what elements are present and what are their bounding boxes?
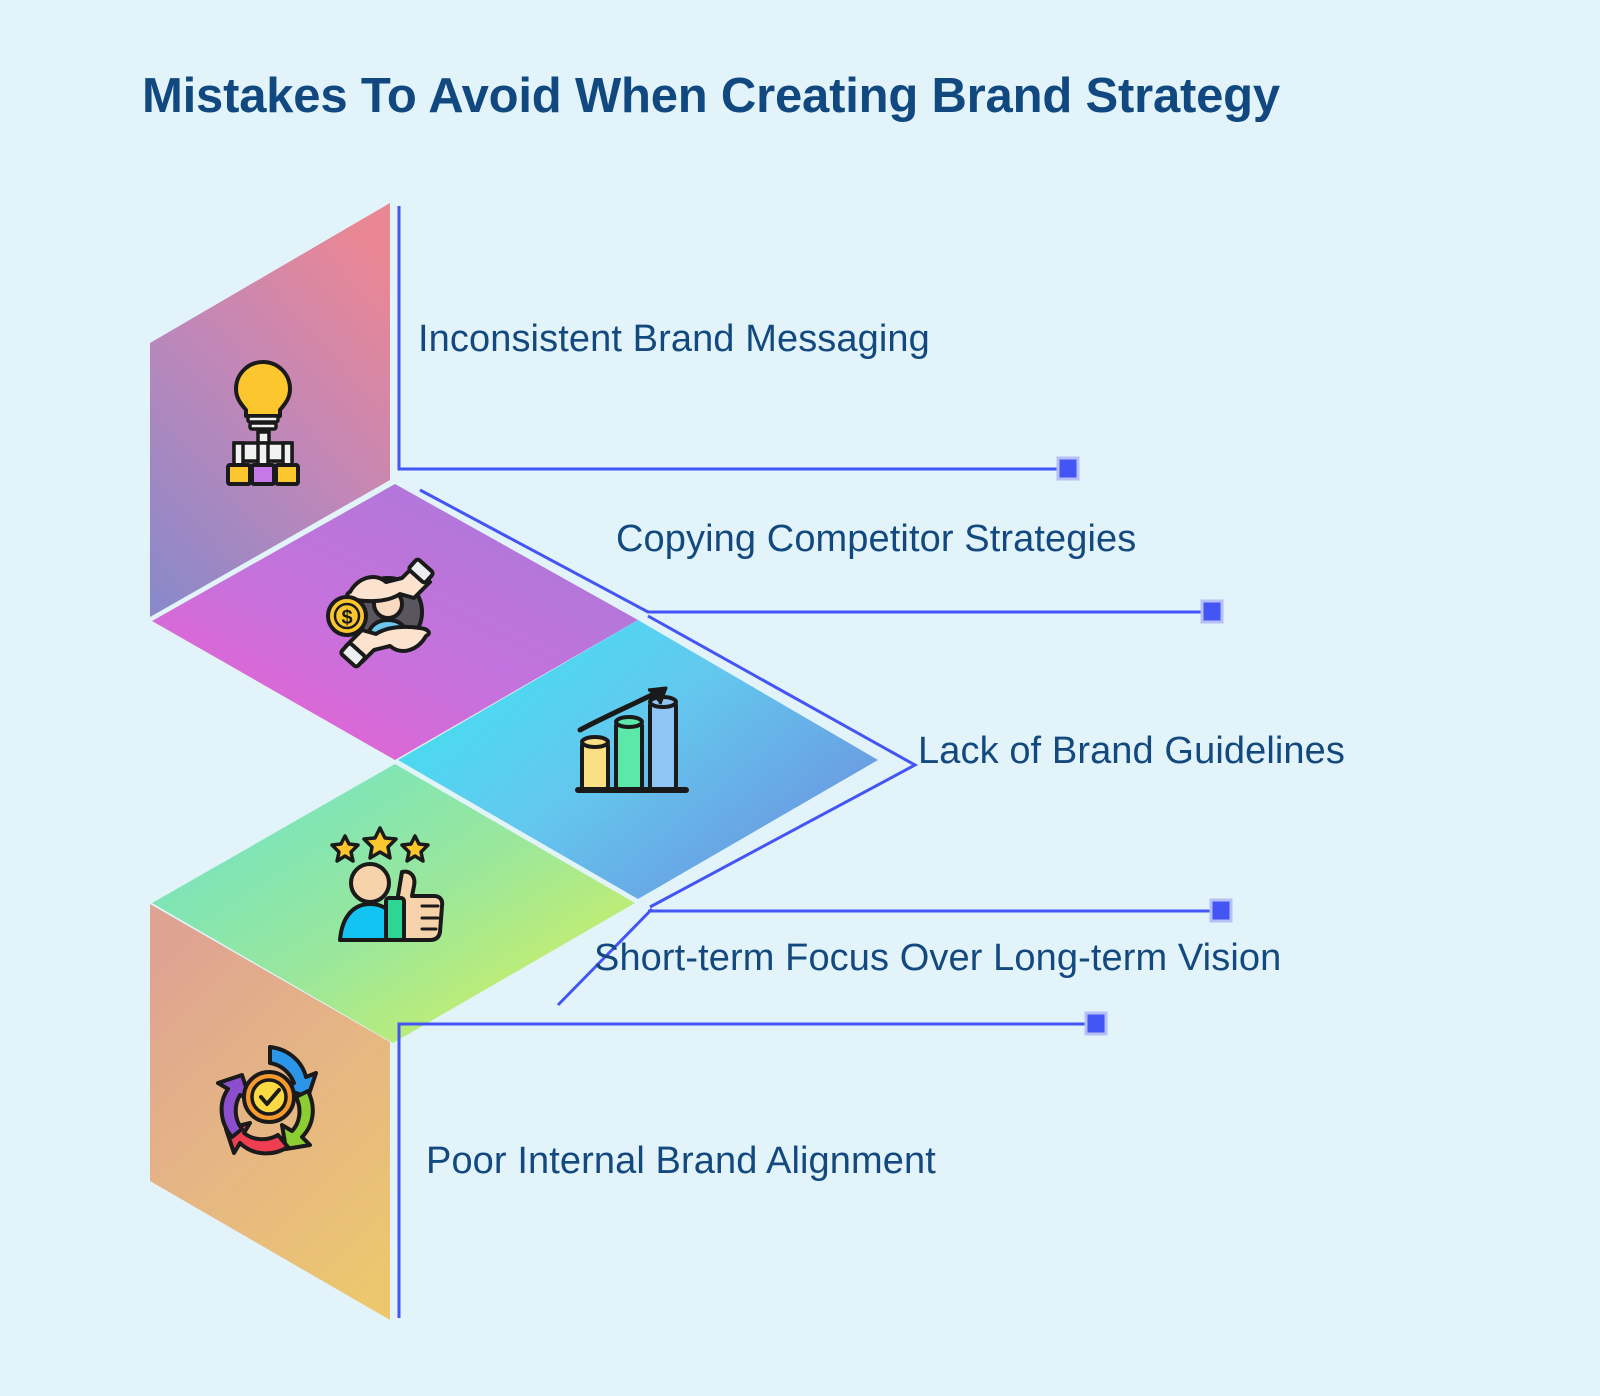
connector-endpoint-marker-4	[1211, 900, 1231, 921]
infographic-artwork: $	[0, 0, 1600, 1396]
connector-endpoint-marker-2	[1202, 601, 1222, 622]
item-label-4: Short-term Focus Over Long-term Vision	[594, 937, 1281, 980]
item-label-3: Lack of Brand Guidelines	[918, 730, 1345, 773]
item-label-5: Poor Internal Brand Alignment	[426, 1140, 936, 1183]
item-label-1: Inconsistent Brand Messaging	[418, 318, 930, 361]
connector-endpoint-marker-1	[1058, 458, 1078, 479]
infographic-canvas: Mistakes To Avoid When Creating Brand St…	[0, 0, 1600, 1396]
item-label-2: Copying Competitor Strategies	[616, 518, 1136, 561]
svg-text:$: $	[341, 607, 352, 629]
connector-endpoint-marker-5	[1086, 1013, 1106, 1034]
